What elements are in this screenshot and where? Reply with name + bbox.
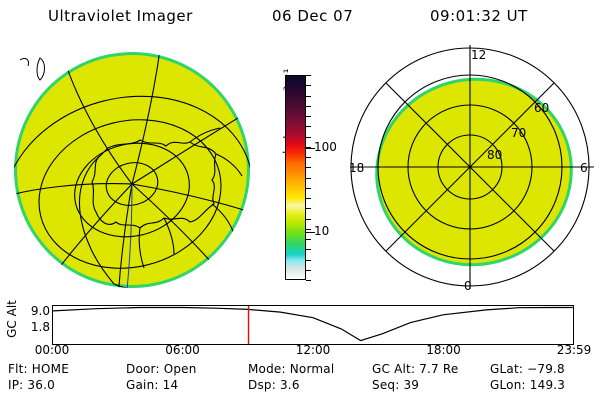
mlt-label-12: 12 [471,48,486,62]
status-bar: Flt: HOME IP: 36.0 Door: Open Gain: 14 M… [0,362,600,400]
timeline-y-tick-label: 1.8 [14,320,50,334]
timeline-y-axis-label: GC Alt [5,293,19,345]
timeline-x-tick-label: 18:00 [418,343,470,357]
colorbar-minor-tick [306,167,311,168]
mlt-label-0: 0 [464,279,472,293]
status-door: Door: Open [126,362,197,376]
offlimb-coast-fragment [20,58,45,80]
timeline-y-tick-label: 9.0 [14,304,50,318]
timeline-svg[interactable] [53,306,573,344]
colorbar-minor-tick [306,239,311,240]
mlat-label-70: 70 [511,126,526,140]
status-gain: Gain: 14 [126,378,178,392]
aurora-region [358,59,591,284]
timeline-x-tick-label: 00:00 [26,343,78,357]
colorbar-minor-tick [306,157,311,158]
colorbar-minor-tick [306,106,311,107]
colorbar-minor-tick [306,280,311,281]
mlat-label-80: 80 [487,148,502,162]
colorbar-minor-tick [306,137,311,138]
header-bar: Ultraviolet Imager 06 Dec 07 09:01:32 UT [0,4,600,30]
mlt-label-6: 6 [580,161,588,175]
aurora-disk [17,55,247,285]
colorbar-minor-tick [306,260,311,261]
status-mode: Mode: Normal [248,362,334,376]
timeline-x-tick-label: 06:00 [157,343,209,357]
colorbar-minor-tick [306,198,311,199]
apex-polar-plot[interactable]: 12 6 0 18 60 70 80 [350,42,598,300]
orbit-altitude-timeline[interactable]: GC Alt 9.01.8 00:0006:0012:0018:0023:59 [0,296,600,358]
observation-date: 06 Dec 07 [272,7,353,25]
timeline-x-tick-label: 12:00 [287,343,339,357]
colorbar-minor-tick [306,219,311,220]
geographic-image-panel[interactable]: Geographic Lat/Lon [4,42,266,300]
aurora-disk [361,63,587,281]
colorbar-minor-tick [306,85,311,86]
status-dsp: Dsp: 3.6 [248,378,300,392]
status-flight: Flt: HOME [8,362,69,376]
status-glon: GLon: 149.3 [490,378,565,392]
colorbar-gradient [285,75,306,280]
timeline-plot-area[interactable] [52,305,574,345]
colorbar-group: photon cm⁻²s⁻¹ 10010 [262,60,348,300]
mlt-label-18: 18 [350,161,364,175]
timeline-x-tick-label: 23:59 [548,343,600,357]
status-gc-alt: GC Alt: 7.7 Re [372,362,458,376]
colorbar-minor-tick [306,188,311,189]
colorbar-minor-tick [306,229,311,230]
colorbar-minor-tick [306,116,311,117]
colorbar-minor-tick [306,75,311,76]
colorbar-minor-tick [306,126,311,127]
colorbar-minor-tick [306,178,311,179]
page-title: Ultraviolet Imager [48,7,193,25]
colorbar-minor-tick [306,208,311,209]
observation-time: 09:01:32 UT [430,7,528,25]
status-ip: IP: 36.0 [8,378,55,392]
status-glat: GLat: −79.8 [490,362,565,376]
mlat-label-60: 60 [534,101,549,115]
colorbar-minor-tick [306,270,311,271]
colorbar-minor-tick [306,249,311,250]
geographic-globe-plot[interactable] [4,42,266,300]
status-seq: Seq: 39 [372,378,419,392]
colorbar-tick-label: 100 [314,140,337,154]
colorbar-minor-tick [306,96,311,97]
colorbar-tick-label: 10 [314,224,329,238]
apex-polar-panel[interactable]: 12 6 0 18 60 70 80 Apex MLat/MLT [350,42,598,300]
altitude-curve [53,308,573,341]
